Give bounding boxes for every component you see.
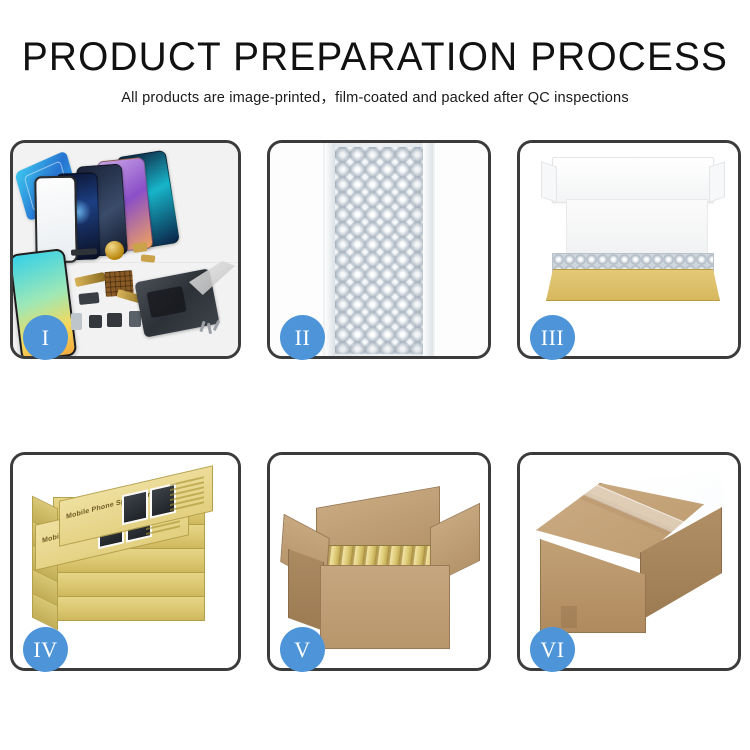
stacked-box <box>53 569 205 597</box>
box-checklist <box>170 476 204 514</box>
bubble-pattern <box>335 147 423 354</box>
step-badge-4: IV <box>23 627 68 672</box>
bubble-wrap-pouch-icon <box>323 143 435 356</box>
step-panel-open-carton[interactable]: V <box>267 452 491 671</box>
box-front-wall <box>546 269 720 301</box>
pouch-seam <box>325 143 335 356</box>
step-panel-sealed-carton[interactable]: VI <box>517 452 741 671</box>
sim-tray-icon <box>71 313 82 330</box>
small-part-icon <box>129 311 141 327</box>
open-carton-icon <box>282 483 478 653</box>
step-badge-1: I <box>23 315 68 360</box>
step-panel-stacked-boxes[interactable]: Mobile Phone Spare Parts Mobile Phone Sp… <box>10 452 241 671</box>
foam-sheet-icon <box>566 199 708 259</box>
carton-side-wall <box>288 549 324 631</box>
step-badge-3: III <box>530 315 575 360</box>
box-window-phone-image <box>122 489 148 525</box>
mailer-box-icon <box>538 157 726 343</box>
camera-module-icon <box>78 292 99 305</box>
small-part-icon <box>141 254 156 262</box>
step-panel-open-mailer-box[interactable]: III <box>517 140 741 359</box>
stacked-box <box>53 593 205 621</box>
sealed-carton-icon <box>536 477 728 653</box>
box-tray <box>546 253 718 301</box>
carton-tab <box>561 606 577 628</box>
small-part-icon <box>132 242 147 253</box>
step-panel-phone-parts[interactable]: I <box>10 140 241 359</box>
process-step-grid: I II III <box>0 0 750 750</box>
screws-icon <box>199 319 223 337</box>
box-lid <box>552 157 714 203</box>
vibration-motor-icon <box>105 241 124 260</box>
pouch-seam <box>423 143 433 356</box>
step-badge-5: V <box>280 627 325 672</box>
small-part-icon <box>89 315 102 328</box>
carton-front-wall <box>320 565 450 649</box>
step-badge-2: II <box>280 315 325 360</box>
step-badge-6: VI <box>530 627 575 672</box>
small-part-icon <box>107 313 122 327</box>
step-panel-bubble-wrap[interactable]: II <box>267 140 491 359</box>
